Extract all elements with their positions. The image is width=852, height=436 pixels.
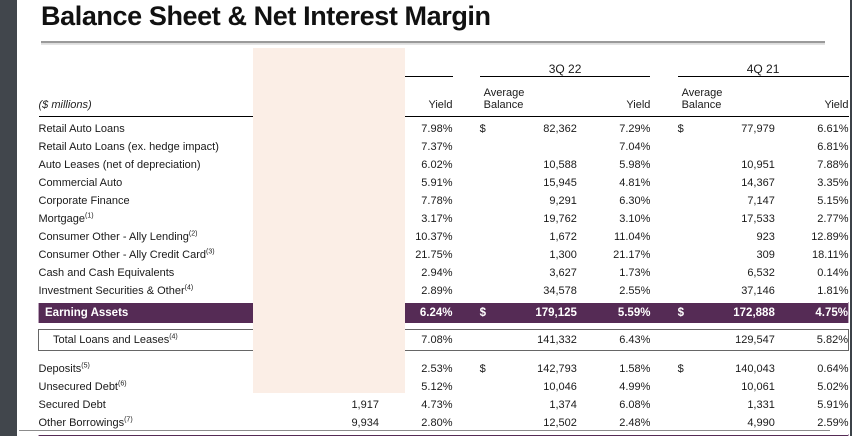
- asset-row-balance-q421: 37,146: [693, 279, 774, 297]
- table-row: Commercial Auto17,2835.91%15,9454.81%14,…: [39, 171, 849, 189]
- asset-row-label-text: Consumer Other - Ally Lending: [39, 231, 189, 243]
- table-row: Cash and Cash Equivalents4,1292.94%3,627…: [39, 261, 849, 279]
- asset-row-label-text: Investment Securities & Other: [39, 285, 185, 297]
- earning-assets-balance-4q21: 172,888: [693, 302, 774, 323]
- asset-row-yield-q322: 3.10%: [586, 207, 650, 225]
- earning-assets-cur-4q21: $: [678, 302, 694, 323]
- funding-row-gap-q322: [577, 411, 586, 429]
- asset-row-footnote-marker: (4): [185, 284, 194, 291]
- asset-row-balance-q322: 19,762: [495, 207, 576, 225]
- asset-rows-body: Retail Auto Loans$83,7817.98%$82,3627.29…: [39, 117, 849, 297]
- asset-row-footnote-marker: (1): [85, 212, 94, 219]
- asset-row-balance-q421: 923: [693, 225, 774, 243]
- funding-row-yield-q322: 6.08%: [586, 393, 650, 411]
- title-divider-rule: [41, 41, 825, 45]
- asset-row-yield-q322: 4.81%: [586, 171, 650, 189]
- asset-row-label: Retail Auto Loans: [39, 117, 282, 135]
- asset-row-currency-q421: [678, 135, 694, 153]
- asset-row-balance-q421: 77,979: [693, 117, 774, 135]
- asset-row-column-separator: [453, 135, 480, 153]
- asset-row-currency-q421: [678, 243, 694, 261]
- funding-row-currency-q322: [480, 375, 496, 393]
- subheader-balance-line1-4q21: Average: [682, 87, 723, 99]
- asset-row-gap-q421: [775, 207, 784, 225]
- asset-row-column-separator: [650, 117, 677, 135]
- column-subheader-row: ($ millions) Average Balance Yield Avera…: [39, 77, 849, 112]
- funding-row-balance-q422: 1,917: [298, 393, 379, 411]
- asset-row-balance-q322: 3,627: [495, 261, 576, 279]
- subheader-balance-3q22: Average Balance: [480, 77, 586, 112]
- asset-row-column-separator: [650, 207, 677, 225]
- asset-row-gap-q322: [577, 243, 586, 261]
- asset-row-balance-q421: 6,532: [693, 261, 774, 279]
- asset-row-column-separator: [650, 171, 677, 189]
- table-row: Corporate Finance10,1817.78%9,2916.30%7,…: [39, 189, 849, 207]
- asset-row-gap-q421: [775, 279, 784, 297]
- asset-row-balance-q421: [693, 135, 774, 153]
- table-row: Mortgage(1)19,8763.17%19,7623.10%17,5332…: [39, 207, 849, 225]
- asset-row-currency-q322: [480, 279, 496, 297]
- asset-row-gap-q322: [577, 207, 586, 225]
- asset-row-column-separator: [453, 171, 480, 189]
- funding-row-column-separator: [453, 375, 480, 393]
- subheader-balance-line2-4q21: Balance: [682, 99, 722, 111]
- asset-row-label: Consumer Other - Ally Lending(2): [39, 225, 282, 243]
- asset-row-currency-q322: [480, 261, 496, 279]
- current-quarter-highlight-band: [253, 48, 405, 393]
- asset-row-balance-q322: [495, 135, 576, 153]
- period-header-4q21: 4Q 21: [678, 48, 849, 77]
- asset-row-yield-q421: 1.81%: [784, 279, 849, 297]
- asset-row-currency-q322: [480, 225, 496, 243]
- subheader-gap-2: [650, 77, 677, 112]
- asset-row-column-separator: [453, 279, 480, 297]
- table-row: Consumer Other - Ally Lending(2)1,90410.…: [39, 225, 849, 243]
- asset-row-currency-q421: [678, 225, 694, 243]
- funding-row-label-text: Other Borrowings: [39, 417, 125, 429]
- asset-row-footnote-marker: (3): [206, 248, 215, 255]
- earning-assets-sep-1: [453, 302, 480, 323]
- asset-row-currency-q421: $: [678, 117, 694, 135]
- total-loans-gapcell-3: [775, 329, 784, 350]
- funding-row-currency-q322: $: [480, 357, 496, 375]
- funding-row-balance-q421: 1,331: [693, 393, 774, 411]
- asset-row-column-separator: [453, 189, 480, 207]
- asset-row-currency-q322: [480, 243, 496, 261]
- funding-row-label: Deposits(5): [39, 357, 282, 375]
- asset-row-yield-q322: 6.30%: [586, 189, 650, 207]
- bottom-divider-rule: [19, 430, 830, 431]
- earning-assets-sep-2: [650, 302, 677, 323]
- asset-row-label: Corporate Finance: [39, 189, 282, 207]
- asset-row-label-text: Retail Auto Loans: [39, 123, 125, 135]
- funding-row-label: Unsecured Debt(6): [39, 375, 282, 393]
- asset-row-label: Consumer Other - Ally Credit Card(3): [39, 243, 282, 261]
- funding-row-footnote-marker: (7): [124, 416, 133, 423]
- asset-row-yield-q421: 6.61%: [784, 117, 849, 135]
- table-row: Secured Debt1,9174.73%1,3746.08%1,3315.9…: [39, 393, 849, 411]
- funding-row-currency-q421: [678, 411, 694, 429]
- funding-row-gap-q421: [775, 393, 784, 411]
- asset-row-gap-q421: [775, 171, 784, 189]
- funding-row-label-text: Deposits: [39, 363, 82, 375]
- funding-row-gap-q322: [577, 375, 586, 393]
- asset-row-yield-q421: 2.77%: [784, 207, 849, 225]
- asset-row-currency-q322: [480, 153, 496, 171]
- asset-row-balance-q421: 7,147: [693, 189, 774, 207]
- left-slide-rail: [0, 0, 17, 436]
- funding-row-footnote-marker: (5): [81, 362, 90, 369]
- asset-row-gap-q421: [775, 261, 784, 279]
- asset-row-currency-q421: [678, 261, 694, 279]
- table-row: Retail Auto Loans$83,7817.98%$82,3627.29…: [39, 117, 849, 135]
- funding-row-label-text: Unsecured Debt: [39, 381, 119, 393]
- table-row: Retail Auto Loans (ex. hedge impact)7.37…: [39, 135, 849, 153]
- asset-row-balance-q421: 14,367: [693, 171, 774, 189]
- asset-row-currency-q322: [480, 189, 496, 207]
- asset-row-gap-q421: [775, 153, 784, 171]
- period-header-3q22: 3Q 22: [480, 48, 651, 77]
- asset-row-label-text: Mortgage: [39, 213, 85, 225]
- funding-row-balance-q322: 142,793: [495, 357, 576, 375]
- total-loans-footnote-marker: (4): [169, 333, 178, 340]
- asset-row-balance-q322: 10,588: [495, 153, 576, 171]
- subheader-balance-4q21: Average Balance: [678, 77, 784, 112]
- subheader-yield-4q21: Yield: [784, 77, 849, 112]
- asset-row-column-separator: [453, 207, 480, 225]
- funding-row-currency-q421: [678, 375, 694, 393]
- asset-row-gap-q322: [577, 225, 586, 243]
- earning-assets-gapcell-3: [775, 302, 784, 323]
- funding-row-gap-q421: [775, 411, 784, 429]
- asset-row-gap-q322: [577, 189, 586, 207]
- asset-row-column-separator: [453, 153, 480, 171]
- asset-row-gap-q421: [775, 117, 784, 135]
- funding-row-gap-q421: [775, 357, 784, 375]
- earning-assets-gapcell-2: [577, 302, 586, 323]
- asset-row-gap-q322: [577, 153, 586, 171]
- slide-canvas: Balance Sheet & Net Interest Margin 4Q 2…: [0, 0, 852, 436]
- asset-row-currency-q322: [480, 207, 496, 225]
- asset-row-column-separator: [650, 261, 677, 279]
- balance-sheet-table: 4Q 22 3Q 22 4Q 21 ($ millions) Average B…: [38, 48, 849, 436]
- total-loans-label-text: Total Loans and Leases: [53, 334, 169, 346]
- earning-assets-yield-4q21: 4.75%: [784, 302, 849, 323]
- funding-row-label: Other Borrowings(7): [39, 411, 282, 429]
- funding-row-yield-q322: 1.58%: [586, 357, 650, 375]
- funding-row-currency-q322: [480, 411, 496, 429]
- asset-row-currency-q322: [480, 171, 496, 189]
- funding-rows-body: Deposits(5)$148,4852.53%$142,7931.58%$14…: [39, 357, 849, 429]
- table-row: Unsecured Debt(6)10,4475.12%10,0464.99%1…: [39, 375, 849, 393]
- funding-row-gap-q422: [379, 393, 388, 411]
- funding-row-column-separator: [650, 393, 677, 411]
- asset-row-yield-q421: 7.88%: [784, 153, 849, 171]
- funding-row-yield-q422: 4.73%: [388, 393, 452, 411]
- earning-assets-balance-3q22: 179,125: [495, 302, 576, 323]
- table-row: Investment Securities & Other(4)32,5132.…: [39, 279, 849, 297]
- earning-assets-cur-3q22: $: [480, 302, 496, 323]
- asset-row-gap-q322: [577, 171, 586, 189]
- funding-row-currency-q322: [480, 393, 496, 411]
- asset-row-yield-q421: 6.81%: [784, 135, 849, 153]
- funding-row-yield-q322: 4.99%: [586, 375, 650, 393]
- asset-row-yield-q322: 1.73%: [586, 261, 650, 279]
- asset-row-yield-q421: 18.11%: [784, 243, 849, 261]
- asset-row-label: Cash and Cash Equivalents: [39, 261, 282, 279]
- total-loans-gapcell-2: [577, 329, 586, 350]
- funding-row-yield-q421: 5.02%: [784, 375, 849, 393]
- asset-row-currency-q322: [480, 135, 496, 153]
- asset-row-column-separator: [453, 243, 480, 261]
- subheader-balance-line1-3q22: Average: [484, 87, 525, 99]
- asset-row-column-separator: [650, 279, 677, 297]
- asset-row-currency-q322: $: [480, 117, 496, 135]
- funding-row-currency-q422: [282, 393, 298, 411]
- asset-row-column-separator: [453, 225, 480, 243]
- funding-row-yield-q322: 2.48%: [586, 411, 650, 429]
- total-loans-balance-3q22: 141,332: [495, 329, 576, 350]
- units-note: ($ millions): [39, 77, 282, 112]
- total-loans-label: Total Loans and Leases(4): [39, 329, 282, 350]
- asset-row-label-text: Retail Auto Loans (ex. hedge impact): [39, 141, 219, 153]
- period-gap-2: [650, 48, 677, 77]
- total-loans-yield-4q21: 5.82%: [784, 329, 849, 350]
- asset-row-label: Mortgage(1): [39, 207, 282, 225]
- asset-row-balance-q322: 34,578: [495, 279, 576, 297]
- period-header-row: 4Q 22 3Q 22 4Q 21: [39, 48, 849, 77]
- funding-row-column-separator: [650, 375, 677, 393]
- earning-assets-yield-3q22: 5.59%: [586, 302, 650, 323]
- asset-row-balance-q322: 82,362: [495, 117, 576, 135]
- asset-row-column-separator: [453, 117, 480, 135]
- asset-row-gap-q421: [775, 243, 784, 261]
- asset-row-balance-q322: 9,291: [495, 189, 576, 207]
- balance-sheet-table-wrapper: 4Q 22 3Q 22 4Q 21 ($ millions) Average B…: [19, 48, 846, 436]
- asset-row-yield-q322: 5.98%: [586, 153, 650, 171]
- asset-row-label: Retail Auto Loans (ex. hedge impact): [39, 135, 282, 153]
- earning-assets-label: Earning Assets: [39, 302, 282, 323]
- period-header-spacer: [39, 48, 282, 77]
- asset-row-yield-q322: 7.04%: [586, 135, 650, 153]
- funding-row-yield-q422: 2.80%: [388, 411, 452, 429]
- asset-row-balance-q421: 309: [693, 243, 774, 261]
- funding-row-balance-q322: 1,374: [495, 393, 576, 411]
- asset-row-balance-q421: 10,951: [693, 153, 774, 171]
- funding-row-footnote-marker: (6): [118, 380, 127, 387]
- asset-row-column-separator: [650, 135, 677, 153]
- funding-row-balance-q322: 12,502: [495, 411, 576, 429]
- asset-row-yield-q421: 0.14%: [784, 261, 849, 279]
- funding-row-yield-q421: 2.59%: [784, 411, 849, 429]
- asset-row-currency-q421: [678, 279, 694, 297]
- asset-row-label-text: Consumer Other - Ally Credit Card: [39, 249, 207, 261]
- asset-row-label: Investment Securities & Other(4): [39, 279, 282, 297]
- funding-row-label-text: Secured Debt: [39, 399, 106, 411]
- asset-row-label-text: Auto Leases (net of depreciation): [39, 159, 201, 171]
- asset-row-column-separator: [650, 243, 677, 261]
- asset-row-yield-q322: 2.55%: [586, 279, 650, 297]
- table-row: Other Borrowings(7)9,9342.80%12,5022.48%…: [39, 411, 849, 429]
- funding-row-column-separator: [453, 393, 480, 411]
- asset-row-label: Auto Leases (net of depreciation): [39, 153, 282, 171]
- asset-row-label-text: Commercial Auto: [39, 177, 123, 189]
- asset-row-balance-q322: 15,945: [495, 171, 576, 189]
- funding-row-currency-q421: [678, 393, 694, 411]
- funding-row-currency-q421: $: [678, 357, 694, 375]
- funding-row-balance-q421: 10,061: [693, 375, 774, 393]
- asset-row-gap-q322: [577, 117, 586, 135]
- page-title: Balance Sheet & Net Interest Margin: [41, 1, 491, 32]
- total-loans-sep-2: [650, 329, 677, 350]
- funding-row-gap-q421: [775, 375, 784, 393]
- asset-row-column-separator: [453, 261, 480, 279]
- period-gap-1: [453, 48, 480, 77]
- asset-row-yield-q421: 12.89%: [784, 225, 849, 243]
- asset-row-gap-q421: [775, 189, 784, 207]
- asset-row-yield-q322: 7.29%: [586, 117, 650, 135]
- funding-row-column-separator: [650, 411, 677, 429]
- total-loans-balance-4q21: 129,547: [693, 329, 774, 350]
- asset-row-label-text: Cash and Cash Equivalents: [39, 267, 175, 279]
- asset-row-balance-q322: 1,672: [495, 225, 576, 243]
- asset-row-gap-q421: [775, 225, 784, 243]
- asset-row-currency-q421: [678, 189, 694, 207]
- asset-row-balance-q322: 1,300: [495, 243, 576, 261]
- earning-assets-label-text: Earning Assets: [45, 307, 128, 319]
- asset-row-column-separator: [650, 189, 677, 207]
- table-row: Auto Leases (net of depreciation)10,5466…: [39, 153, 849, 171]
- funding-row-gap-q422: [379, 411, 388, 429]
- funding-row-balance-q322: 10,046: [495, 375, 576, 393]
- asset-row-currency-q421: [678, 171, 694, 189]
- funding-row-currency-q422: [282, 411, 298, 429]
- asset-row-gap-q421: [775, 135, 784, 153]
- funding-row-yield-q421: 0.64%: [784, 357, 849, 375]
- asset-row-label: Commercial Auto: [39, 171, 282, 189]
- asset-row-currency-q421: [678, 207, 694, 225]
- total-loans-sep-1: [453, 329, 480, 350]
- asset-row-yield-q322: 21.17%: [586, 243, 650, 261]
- funding-row-gap-q322: [577, 357, 586, 375]
- asset-row-gap-q322: [577, 135, 586, 153]
- funding-row-yield-q421: 5.91%: [784, 393, 849, 411]
- funding-row-column-separator: [453, 411, 480, 429]
- earning-assets-row: Earning Assets $ 181,698 6.24% $ 179,125…: [39, 302, 849, 323]
- asset-row-gap-q322: [577, 261, 586, 279]
- funding-row-balance-q421: 4,990: [693, 411, 774, 429]
- asset-row-yield-q421: 3.35%: [784, 171, 849, 189]
- subheader-yield-3q22: Yield: [586, 77, 650, 112]
- subheader-gap-1: [453, 77, 480, 112]
- total-loans-row: Total Loans and Leases(4) 145,438 7.08% …: [39, 329, 849, 350]
- asset-row-balance-q421: 17,533: [693, 207, 774, 225]
- asset-row-gap-q322: [577, 279, 586, 297]
- asset-row-column-separator: [650, 153, 677, 171]
- total-loans-cur-3q22: [480, 329, 496, 350]
- funding-row-gap-q322: [577, 393, 586, 411]
- subheader-balance-line2-3q22: Balance: [484, 99, 524, 111]
- asset-row-currency-q421: [678, 153, 694, 171]
- table-row: Consumer Other - Ally Credit Card(3)1,48…: [39, 243, 849, 261]
- funding-row-column-separator: [453, 357, 480, 375]
- total-loans-cur-4q21: [678, 329, 694, 350]
- asset-row-footnote-marker: (2): [189, 230, 198, 237]
- asset-row-column-separator: [650, 225, 677, 243]
- funding-row-balance-q422: 9,934: [298, 411, 379, 429]
- funding-row-column-separator: [650, 357, 677, 375]
- funding-row-balance-q421: 140,043: [693, 357, 774, 375]
- funding-row-label: Secured Debt: [39, 393, 282, 411]
- asset-row-label-text: Corporate Finance: [39, 195, 130, 207]
- total-loans-yield-3q22: 6.43%: [586, 329, 650, 350]
- table-row: Deposits(5)$148,4852.53%$142,7931.58%$14…: [39, 357, 849, 375]
- asset-row-yield-q322: 11.04%: [586, 225, 650, 243]
- asset-row-yield-q421: 5.15%: [784, 189, 849, 207]
